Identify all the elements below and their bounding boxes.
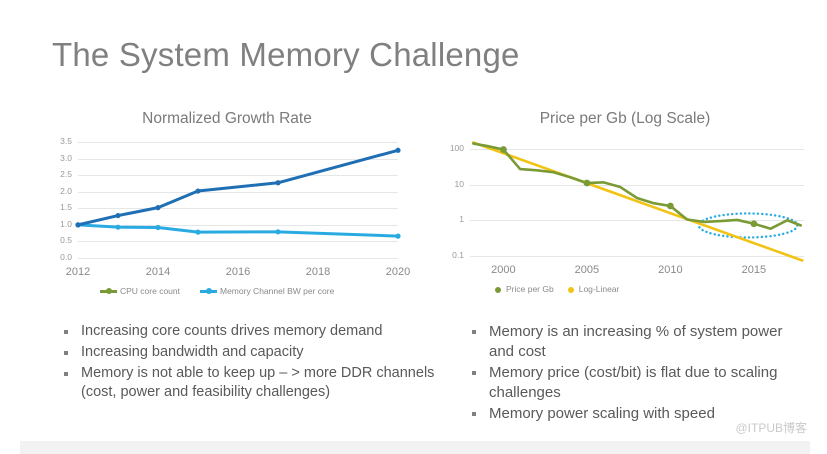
data-point-marker bbox=[275, 180, 280, 185]
series-line bbox=[78, 150, 398, 225]
series-overlay bbox=[440, 128, 810, 288]
legend-price-per-gb: Price per GbLog-Linear bbox=[495, 284, 619, 295]
plot-area-price-per-gb: 1001010.12000200520102015 bbox=[440, 128, 810, 288]
data-point-marker bbox=[667, 203, 674, 210]
legend-swatch-icon bbox=[200, 290, 217, 293]
data-point-marker bbox=[115, 225, 120, 230]
series-line bbox=[473, 142, 802, 260]
legend-label: Memory Channel BW per core bbox=[220, 286, 334, 297]
data-point-marker bbox=[195, 230, 200, 235]
page-title: The System Memory Challenge bbox=[52, 36, 520, 74]
legend-swatch-icon bbox=[568, 287, 574, 293]
bullet-item: Memory is not able to keep up – > more D… bbox=[62, 364, 442, 402]
data-point-marker bbox=[500, 146, 507, 153]
data-point-marker bbox=[75, 222, 80, 227]
legend-swatch-icon bbox=[100, 290, 117, 293]
data-point-marker bbox=[395, 148, 400, 153]
data-point-marker bbox=[395, 234, 400, 239]
chart-normalized-growth-rate: Normalized Growth Rate 0.00.51.01.52.02.… bbox=[52, 110, 402, 310]
bullet-item: Memory price (cost/bit) is flat due to s… bbox=[470, 363, 790, 402]
highlight-ellipse bbox=[699, 213, 798, 237]
data-point-marker bbox=[115, 213, 120, 218]
data-point-marker bbox=[155, 225, 160, 230]
legend-label: CPU core count bbox=[120, 286, 180, 297]
series-line bbox=[473, 144, 800, 229]
legend-entry[interactable]: CPU core count bbox=[100, 286, 180, 297]
chart-title-price-per-gb: Price per Gb (Log Scale) bbox=[440, 110, 810, 128]
data-point-marker bbox=[584, 180, 591, 187]
legend-entry[interactable]: Memory Channel BW per core bbox=[200, 286, 334, 297]
legend-swatch-icon bbox=[495, 287, 501, 293]
left-bullet-list: Increasing core counts drives memory dem… bbox=[62, 322, 442, 405]
bullet-item: Increasing core counts drives memory dem… bbox=[62, 322, 442, 341]
legend-label: Log-Linear bbox=[579, 284, 620, 295]
legend-normalized-growth-rate: CPU core countMemory Channel BW per core bbox=[100, 286, 334, 297]
legend-entry[interactable]: Log-Linear bbox=[568, 284, 620, 295]
data-point-marker bbox=[275, 229, 280, 234]
legend-label: Price per Gb bbox=[506, 284, 554, 295]
legend-entry[interactable]: Price per Gb bbox=[495, 284, 554, 295]
chart-price-per-gb: Price per Gb (Log Scale) 1001010.1200020… bbox=[440, 110, 810, 310]
chart-title-normalized-growth-rate: Normalized Growth Rate bbox=[52, 110, 402, 128]
footer-bar bbox=[20, 441, 810, 454]
watermark: @ITPUB博客 bbox=[735, 419, 807, 436]
plot-area-normalized-growth-rate: 0.00.51.01.52.02.53.03.52012201420162018… bbox=[52, 128, 402, 288]
data-point-marker bbox=[195, 188, 200, 193]
bullet-item: Memory is an increasing % of system powe… bbox=[470, 322, 790, 361]
right-bullet-list: Memory is an increasing % of system powe… bbox=[470, 322, 790, 426]
data-point-marker bbox=[751, 220, 758, 227]
bullet-item: Increasing bandwidth and capacity bbox=[62, 343, 442, 362]
data-point-marker bbox=[155, 205, 160, 210]
series-overlay bbox=[52, 128, 402, 288]
series-line bbox=[78, 225, 398, 236]
